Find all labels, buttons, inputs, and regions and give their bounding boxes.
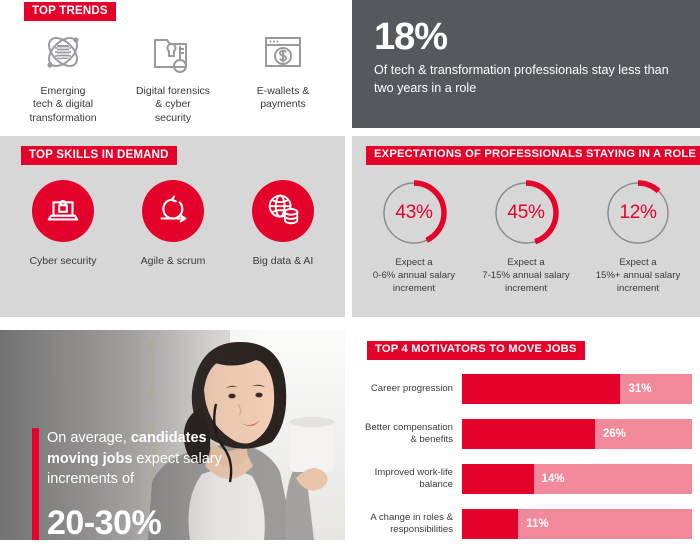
bar-fill: [462, 509, 518, 539]
bar-track: 11%: [462, 509, 692, 539]
bar-value: 31%: [628, 374, 651, 404]
expectations-badge: EXPECTATIONS OF PROFESSIONALS STAYING IN…: [366, 146, 700, 165]
donut-caption: Expect a 0-6% annual salary increment: [373, 257, 455, 296]
skill-circle: [142, 180, 204, 242]
trend-label: Emerging tech & digital transformation: [29, 85, 96, 125]
donut-value: 45%: [491, 178, 561, 248]
donut-caption: Expect a 7-15% annual salary increment: [482, 257, 569, 296]
bar-label: Improved work-life balance: [362, 467, 462, 492]
trend-label: Digital forensics & cyber security: [136, 85, 210, 125]
donut-list: 43% Expect a 0-6% annual salary incremen…: [358, 178, 694, 296]
stat-description: Of tech & transformation professionals s…: [374, 62, 682, 98]
skill-circle: [252, 180, 314, 242]
agile-cycle-icon: [154, 190, 192, 233]
panel-top-skills: TOP SKILLS IN DEMAND: [0, 136, 345, 317]
donut-chart: 45%: [491, 178, 561, 248]
bar-row: Better compensation & benefits 26%: [362, 419, 692, 449]
trend-item-ewallets: E-wallets & payments: [228, 26, 338, 125]
trend-item-digital-forensics: Digital forensics & cyber security: [118, 26, 228, 125]
skill-item-cyber-security: Cyber security: [8, 180, 118, 267]
bar-label: Better compensation & benefits: [362, 422, 462, 447]
folder-key-icon: [148, 26, 198, 78]
globe-database-icon: [264, 190, 302, 233]
skill-circle: [32, 180, 94, 242]
motivators-bar-chart: Career progression 31% Better compensati…: [362, 374, 692, 554]
skill-label: Cyber security: [29, 255, 96, 267]
bar-track: 31%: [462, 374, 692, 404]
bar-row: Career progression 31%: [362, 374, 692, 404]
donut-item-7-15-percent: 45% Expect a 7-15% annual salary increme…: [470, 178, 582, 296]
top-trends-badge: TOP TRENDS: [24, 2, 116, 21]
bar-track: 26%: [462, 419, 692, 449]
laptop-lock-icon: [44, 190, 82, 233]
donut-value: 12%: [603, 178, 673, 248]
skill-label: Big data & AI: [253, 255, 314, 267]
panel-top-trends: TOP TRENDS: [0, 0, 345, 128]
donut-value: 43%: [379, 178, 449, 248]
donut-item-0-6-percent: 43% Expect a 0-6% annual salary incremen…: [358, 178, 470, 296]
photo-callout-text: On average, candidates moving jobs expec…: [47, 428, 222, 490]
bar-fill: [462, 464, 534, 494]
top-skills-badge: TOP SKILLS IN DEMAND: [21, 146, 177, 165]
bar-track: 14%: [462, 464, 692, 494]
skill-item-big-data-ai: Big data & AI: [228, 180, 338, 267]
panel-photo-callout: On average, candidates moving jobs expec…: [0, 330, 345, 540]
panel-expectations: EXPECTATIONS OF PROFESSIONALS STAYING IN…: [352, 136, 700, 317]
infographic-page: TOP TRENDS: [0, 0, 700, 540]
callout-big-number: 20-30%: [47, 506, 161, 540]
bar-row: Improved work-life balance 14%: [362, 464, 692, 494]
stat-number: 18%: [374, 18, 447, 56]
callout-line1: On average,: [47, 430, 127, 446]
bar-value: 14%: [542, 464, 565, 494]
panel-motivators: TOP 4 MOTIVATORS TO MOVE JOBS Career pro…: [352, 330, 700, 540]
skill-item-agile-scrum: Agile & scrum: [118, 180, 228, 267]
atom-chip-icon: [38, 26, 88, 78]
bar-label: Career progression: [362, 383, 462, 395]
top-skills-list: Cyber security: [8, 180, 338, 267]
bar-label: A change in roles & responsibilities: [362, 512, 462, 537]
donut-chart: 12%: [603, 178, 673, 248]
donut-chart: 43%: [379, 178, 449, 248]
donut-item-15-plus-percent: 12% Expect a 15%+ annual salary incremen…: [582, 178, 694, 296]
panel-retention-stat: 18% Of tech & transformation professiona…: [352, 0, 700, 128]
motivators-badge: TOP 4 MOTIVATORS TO MOVE JOBS: [367, 341, 585, 360]
skill-label: Agile & scrum: [141, 255, 206, 267]
trend-item-emerging-tech: Emerging tech & digital transformation: [8, 26, 118, 125]
browser-dollar-icon: [258, 26, 308, 78]
bar-value: 11%: [526, 509, 548, 539]
trend-label: E-wallets & payments: [257, 85, 310, 112]
bar-fill: [462, 419, 595, 449]
red-accent-bar: [32, 428, 39, 540]
bar-row: A change in roles & responsibilities 11%: [362, 509, 692, 539]
bar-value: 26%: [603, 419, 626, 449]
top-trends-list: Emerging tech & digital transformation: [8, 26, 338, 125]
bar-fill: [462, 374, 620, 404]
donut-caption: Expect a 15%+ annual salary increment: [596, 257, 681, 296]
